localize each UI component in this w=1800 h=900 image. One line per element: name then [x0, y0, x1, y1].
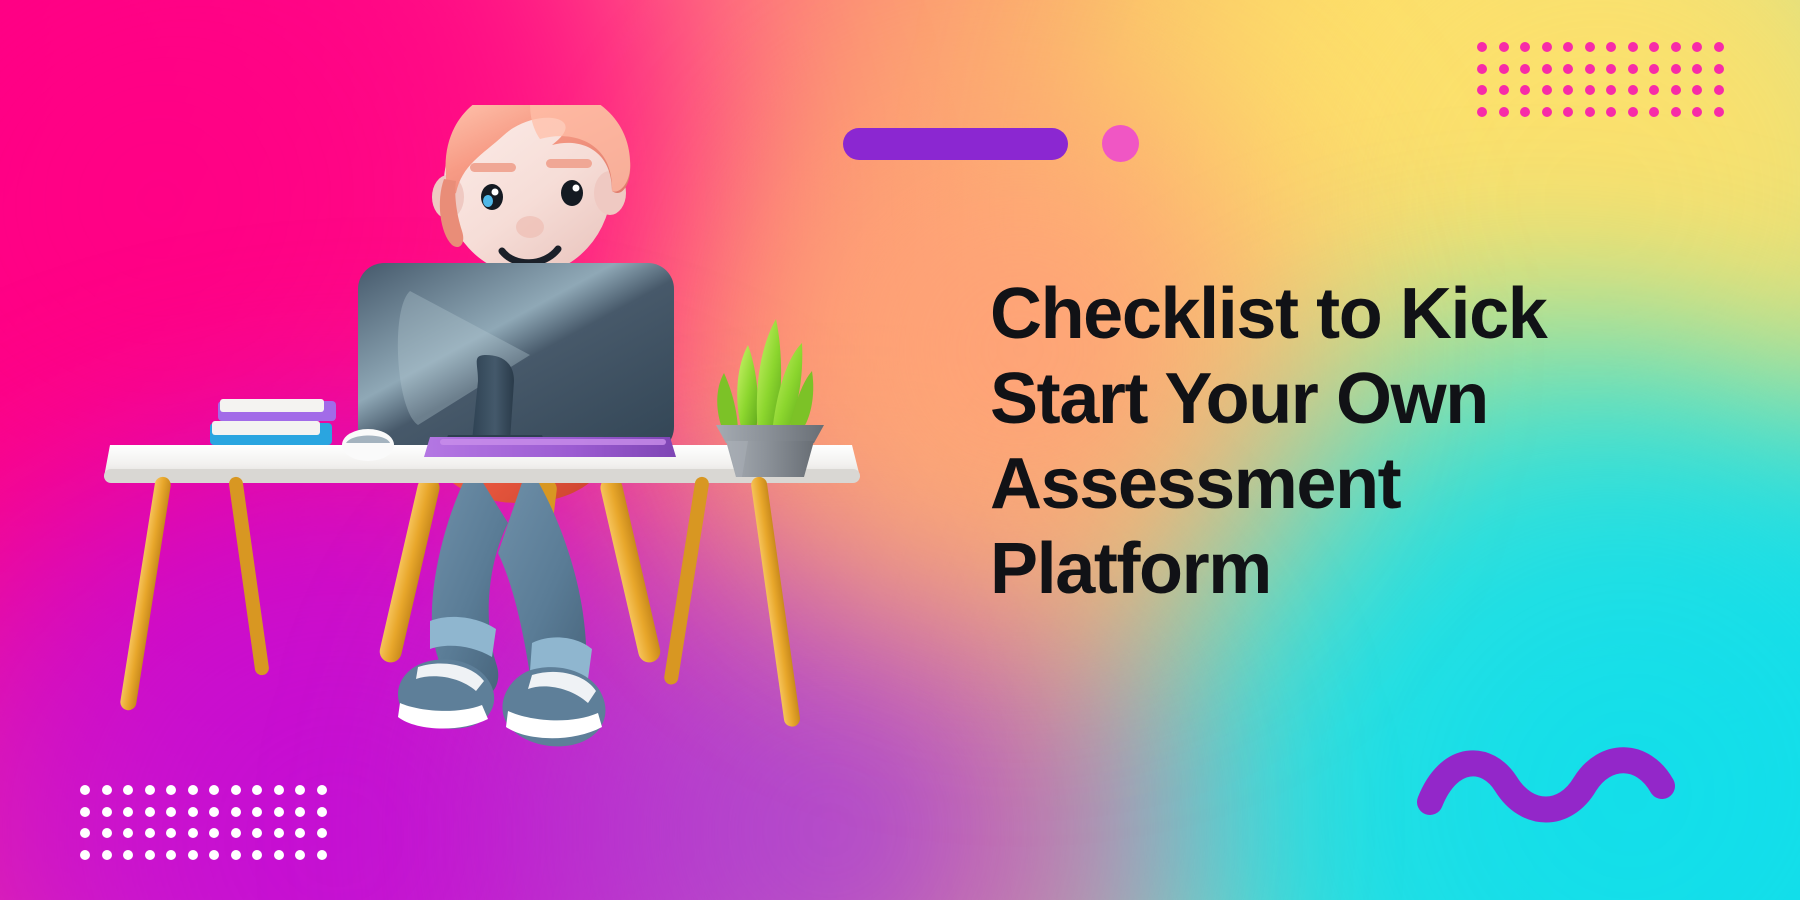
grid-dot — [1692, 85, 1702, 95]
hero-illustration — [100, 105, 910, 785]
grid-dot — [1606, 85, 1616, 95]
grid-dot — [252, 850, 262, 860]
grid-dot — [145, 828, 155, 838]
grid-dot — [80, 850, 90, 860]
grid-dot — [188, 807, 198, 817]
page-title-line-1: Start Your Own — [990, 357, 1710, 442]
grid-dot — [1499, 85, 1509, 95]
grid-dot — [166, 828, 176, 838]
grid-dot — [1563, 107, 1573, 117]
grid-dot — [145, 850, 155, 860]
grid-dot — [1692, 107, 1702, 117]
grid-dot — [252, 785, 262, 795]
grid-dot — [1585, 42, 1595, 52]
grid-dot — [1671, 85, 1681, 95]
grid-dot — [1542, 42, 1552, 52]
grid-dot — [1477, 107, 1487, 117]
grid-dot — [102, 785, 112, 795]
grid-dot — [102, 828, 112, 838]
grid-dot — [166, 785, 176, 795]
grid-dot — [209, 828, 219, 838]
grid-dot — [80, 807, 90, 817]
grid-dot — [1477, 42, 1487, 52]
grid-dot — [1585, 85, 1595, 95]
grid-dot — [1628, 42, 1638, 52]
grid-dot — [1520, 42, 1530, 52]
grid-dot — [231, 828, 241, 838]
grid-dot — [145, 785, 155, 795]
grid-dot — [231, 850, 241, 860]
grid-dot — [123, 807, 133, 817]
grid-dot — [1520, 107, 1530, 117]
page-title-line-3: Platform — [990, 527, 1710, 612]
grid-dot — [166, 807, 176, 817]
grid-dot — [274, 828, 284, 838]
grid-dot — [123, 785, 133, 795]
grid-dot — [295, 850, 305, 860]
dot-grid-pink — [1477, 42, 1735, 128]
grid-dot — [1628, 64, 1638, 74]
grid-dot — [231, 785, 241, 795]
grid-dot — [188, 785, 198, 795]
grid-dot — [317, 828, 327, 838]
grid-dot — [102, 850, 112, 860]
grid-dot — [252, 828, 262, 838]
dot-grid-white — [80, 785, 338, 871]
grid-dot — [1649, 107, 1659, 117]
grid-dot — [1563, 64, 1573, 74]
purple-wave-icon — [1415, 740, 1705, 835]
grid-dot — [1563, 85, 1573, 95]
grid-dot — [1692, 42, 1702, 52]
grid-dot — [145, 807, 155, 817]
illustration-monitor — [358, 263, 674, 453]
grid-dot — [1649, 85, 1659, 95]
page-title-line-2: Assessment — [990, 442, 1710, 527]
grid-dot — [1628, 85, 1638, 95]
grid-dot — [1499, 42, 1509, 52]
grid-dot — [1714, 42, 1724, 52]
grid-dot — [1649, 42, 1659, 52]
grid-dot — [1520, 85, 1530, 95]
grid-dot — [1606, 64, 1616, 74]
grid-dot — [1649, 64, 1659, 74]
grid-dot — [1520, 64, 1530, 74]
grid-dot — [1563, 42, 1573, 52]
grid-dot — [166, 850, 176, 860]
promo-banner: Checklist to KickStart Your OwnAssessmen… — [0, 0, 1800, 900]
page-title: Checklist to KickStart Your OwnAssessmen… — [990, 272, 1710, 612]
page-title-line-0: Checklist to Kick — [990, 272, 1710, 357]
grid-dot — [1671, 42, 1681, 52]
grid-dot — [209, 850, 219, 860]
grid-dot — [295, 785, 305, 795]
grid-dot — [102, 807, 112, 817]
grid-dot — [123, 850, 133, 860]
grid-dot — [188, 850, 198, 860]
grid-dot — [1499, 64, 1509, 74]
illustration-keyboard — [424, 437, 676, 457]
grid-dot — [1585, 64, 1595, 74]
grid-dot — [1585, 107, 1595, 117]
grid-dot — [317, 785, 327, 795]
grid-dot — [80, 828, 90, 838]
grid-dot — [209, 807, 219, 817]
grid-dot — [1671, 107, 1681, 117]
illustration-plant — [716, 319, 824, 477]
grid-dot — [123, 828, 133, 838]
grid-dot — [188, 828, 198, 838]
grid-dot — [295, 828, 305, 838]
grid-dot — [1542, 85, 1552, 95]
grid-dot — [317, 807, 327, 817]
illustration-books — [210, 399, 336, 445]
pink-circle-shape — [1102, 125, 1139, 162]
grid-dot — [1542, 107, 1552, 117]
grid-dot — [1628, 107, 1638, 117]
grid-dot — [209, 785, 219, 795]
grid-dot — [231, 807, 241, 817]
grid-dot — [1499, 107, 1509, 117]
grid-dot — [274, 785, 284, 795]
grid-dot — [1714, 64, 1724, 74]
grid-dot — [1671, 64, 1681, 74]
grid-dot — [1542, 64, 1552, 74]
grid-dot — [317, 850, 327, 860]
grid-dot — [274, 850, 284, 860]
grid-dot — [274, 807, 284, 817]
grid-dot — [252, 807, 262, 817]
grid-dot — [1606, 107, 1616, 117]
grid-dot — [1606, 42, 1616, 52]
grid-dot — [295, 807, 305, 817]
illustration-mouse — [342, 429, 394, 461]
grid-dot — [1714, 85, 1724, 95]
grid-dot — [1692, 64, 1702, 74]
grid-dot — [1477, 85, 1487, 95]
grid-dot — [1714, 107, 1724, 117]
grid-dot — [1477, 64, 1487, 74]
grid-dot — [80, 785, 90, 795]
